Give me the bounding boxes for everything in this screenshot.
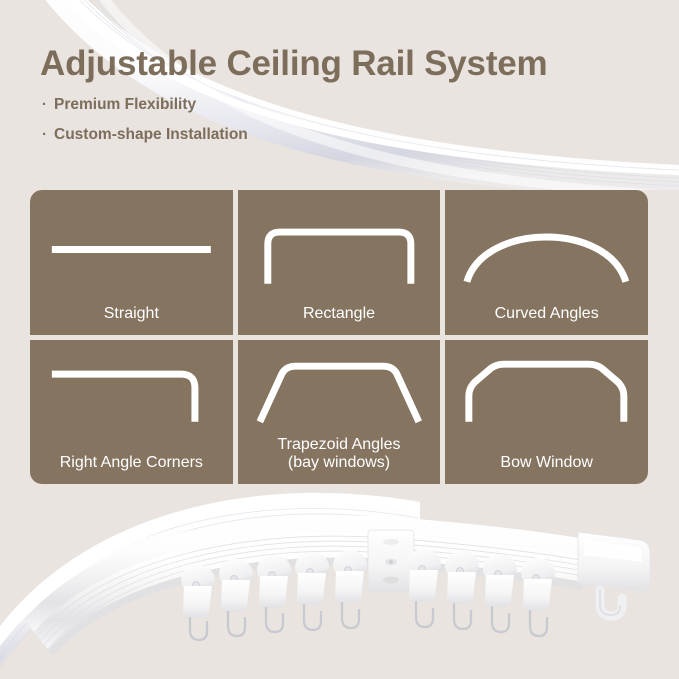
bullet-dot-icon: · [42,97,47,112]
shape-cell-bow-window[interactable]: Bow Window [445,340,648,485]
shape-cell-right-angle-corners[interactable]: Right Angle Corners [30,340,233,485]
glider [407,549,441,627]
shape-cell-straight[interactable]: Straight [30,190,233,335]
mounting-bracket [368,530,414,592]
page-title: Adjustable Ceiling Rail System [40,46,640,83]
glider [445,551,479,629]
shape-label: Curved Angles [445,305,648,323]
glider [521,558,555,636]
shape-label: Straight [30,305,233,323]
glider [219,559,253,636]
shape-label: Rectangle [238,305,441,323]
rail-end-cap [578,532,650,616]
bullet-dot-icon: · [42,127,47,142]
roller-gliders [181,549,555,640]
feature-text: Premium Flexibility [54,96,196,113]
glider [295,552,329,630]
shape-cell-trapezoid-angles[interactable]: Trapezoid Angles (bay windows) [238,340,441,485]
header: Adjustable Ceiling Rail System ·Premium … [40,46,640,158]
shape-label: Trapezoid Angles (bay windows) [238,436,441,472]
shape-label: Right Angle Corners [30,454,233,472]
feature-item: ·Custom-shape Installation [42,127,640,143]
feature-item: ·Premium Flexibility [42,97,640,113]
flexible-white-rail [24,515,592,656]
rectangle-u-icon [238,194,441,290]
shape-cell-rectangle[interactable]: Rectangle [238,190,441,335]
feature-text: Custom-shape Installation [54,126,248,143]
shape-cell-curved-angles[interactable]: Curved Angles [445,190,648,335]
lower-rail-ribbon [0,493,420,679]
bow-window-icon [445,344,648,440]
shape-options-grid: Straight Rectangle Curved Angles Right A… [30,190,648,484]
l-corner-icon [30,344,233,440]
glider [181,565,215,640]
straight-line-icon [30,194,233,290]
product-photo [0,470,679,679]
glider [483,554,517,632]
shape-label: Bow Window [445,454,648,472]
feature-list: ·Premium Flexibility ·Custom-shape Insta… [42,97,640,143]
trapezoid-icon [238,344,441,440]
glider [333,550,367,628]
glider [257,555,291,632]
arc-icon [445,194,648,290]
product-infographic: Adjustable Ceiling Rail System ·Premium … [0,0,679,679]
